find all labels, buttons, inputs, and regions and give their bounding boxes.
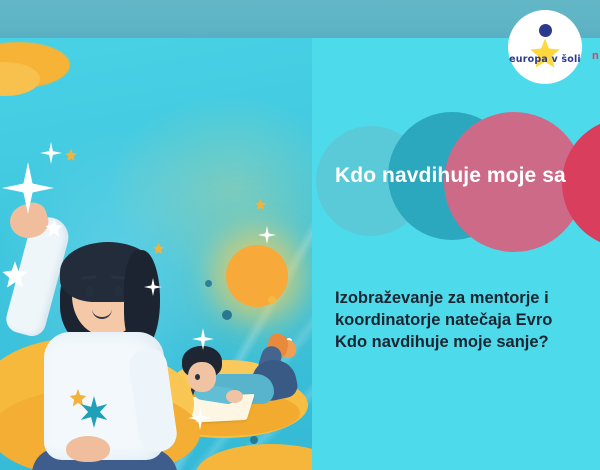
sparkle-star-icon (258, 226, 276, 244)
body-line: Kdo navdihuje moje sanje? (335, 332, 600, 354)
girl-eye-right (114, 286, 123, 297)
body-line: Izobraževanje za mentorje i (335, 288, 600, 310)
logo-dot-icon (539, 24, 552, 37)
star-icon-yellow (64, 148, 78, 162)
boy-eye (195, 374, 200, 380)
sun-icon (226, 245, 288, 307)
decorative-dot (250, 436, 258, 444)
boy-hand (226, 390, 243, 403)
girl-hand-lap (66, 436, 110, 462)
girl-eye-left (85, 286, 94, 297)
body-text: Izobraževanje za mentorje i koordinatorj… (335, 288, 600, 353)
decorative-dot (205, 280, 212, 287)
body-line: koordinatorje natečaja Evro (335, 310, 600, 332)
page-title: Kdo navdihuje moje sa (335, 164, 600, 188)
girl-figure (6, 180, 186, 470)
boy-face (188, 362, 216, 392)
logo[interactable]: europa v šoli (508, 10, 582, 84)
content-panel (312, 38, 600, 470)
star-icon-yellow (254, 198, 267, 211)
poster: Kdo navdihuje moje sa Izobraževanje za m… (0, 0, 600, 470)
decorative-dot (268, 296, 276, 304)
shirt-star-teal-icon (78, 396, 110, 428)
logo-text: europa v šoli (508, 54, 582, 65)
boy-figure (176, 334, 296, 426)
illustration (0, 38, 312, 470)
cloud-bottom (196, 444, 312, 470)
decorative-dot (222, 310, 232, 320)
logo-side-text: n (592, 50, 599, 62)
sparkle-star-icon (40, 142, 62, 164)
